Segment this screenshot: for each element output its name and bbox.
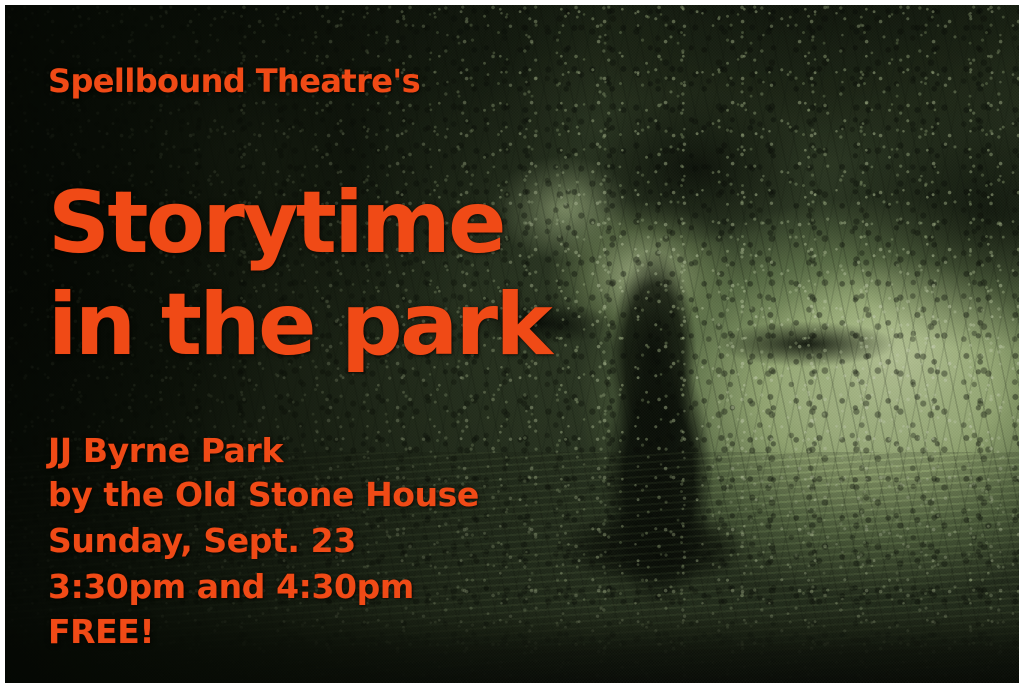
event-times-line: 3:30pm and 4:30pm	[48, 567, 414, 606]
presenter-line: Spellbound Theatre's	[48, 62, 420, 100]
poster-text-block: Spellbound Theatre's Storytime in the pa…	[0, 0, 1024, 688]
poster-title-line-2: in the park	[48, 275, 550, 375]
venue-name-line: JJ Byrne Park	[48, 431, 283, 470]
venue-detail-line: by the Old Stone House	[48, 475, 479, 514]
poster-canvas: Spellbound Theatre's Storytime in the pa…	[0, 0, 1024, 688]
poster-title-line-1: Storytime	[48, 173, 504, 273]
event-price-line: FREE!	[48, 612, 154, 651]
event-date-line: Sunday, Sept. 23	[48, 521, 356, 560]
